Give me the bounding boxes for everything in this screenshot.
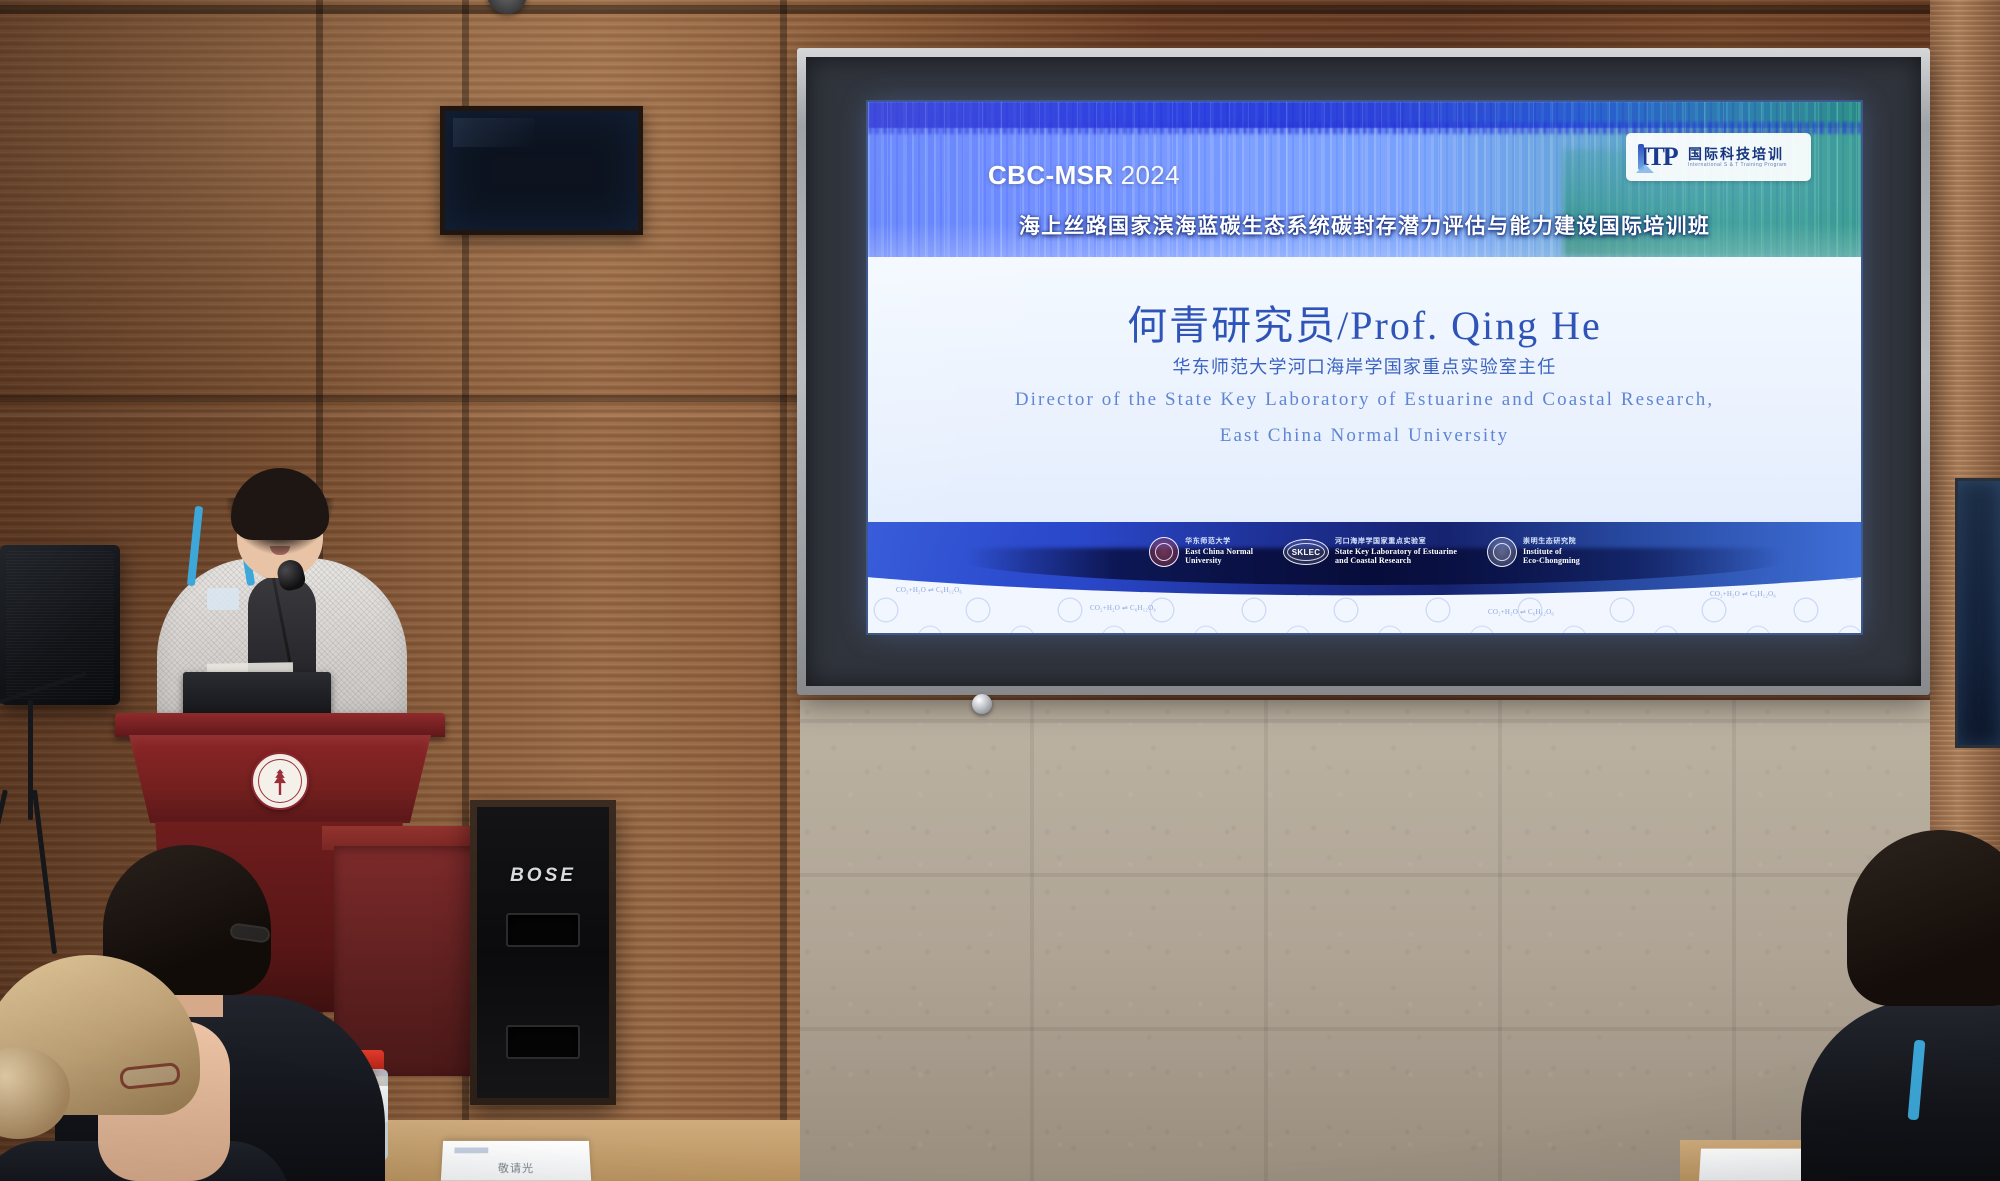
eco-chongming-logo-text: 崇明生态研究院 Institute of Eco-Chongming [1523,538,1580,566]
bose-speaker-cabinet: BOSE [470,800,616,1105]
itp-mark-icon: ITP [1635,140,1681,174]
sklec-name-cn: 河口海岸学国家重点实验室 [1335,538,1457,547]
chem-equation: CO₂+H₂O ⇌ C₆H₁₂O₆ [896,586,962,594]
emblem-tree-icon [270,769,290,795]
affiliation-cn: 华东师范大学河口海岸学国家重点实验室主任 [868,353,1861,379]
side-window-panel [1955,478,2000,748]
slide-footer: CO₂+H₂O ⇌ C₆H₁₂O₆ CO₂+H₂O ⇌ C₆H₁₂O₆ CO₂+… [868,522,1861,633]
event-code-text: CBC-MSR [988,160,1114,190]
eco-chongming-seal-icon [1487,537,1517,567]
eco-chongming-name-en-2: Eco-Chongming [1523,556,1580,566]
itp-logo-text: 国际科技培训 International S & T Training Prog… [1688,146,1787,168]
partner-logo-eco-chongming: 崇明生态研究院 Institute of Eco-Chongming [1487,537,1580,567]
bose-bass-port-upper [506,913,580,947]
ecnu-logo-text: 华东师范大学 East China Normal University [1185,538,1253,566]
affiliation-en-line2: East China Normal University [868,425,1861,447]
conference-hall-scene: CBC-MSR2024 ITP 国际科技培训 International S &… [0,0,2000,1181]
itp-name-en: International S & T Training Program [1688,162,1787,168]
partner-logo-sklec: SKLEC 河口海岸学国家重点实验室 State Key Laboratory … [1283,538,1457,566]
ecnu-name-en-1: East China Normal [1185,547,1253,557]
wall-monitor[interactable] [440,106,643,235]
event-code-title: CBC-MSR2024 [988,160,1180,191]
itp-logo: ITP 国际科技培训 International S & T Training … [1626,133,1811,181]
speaker-name: 何青研究员/Prof. Qing He [868,293,1861,351]
projection-screen-frame: CBC-MSR2024 ITP 国际科技培训 International S &… [797,48,1930,695]
affiliation-en-line1: Director of the State Key Laboratory of … [868,389,1861,411]
bose-bass-port-lower [506,1025,580,1059]
ecnu-name-cn: 华东师范大学 [1185,538,1253,547]
podium-top-ledge [115,713,445,737]
eco-chongming-name-cn: 崇明生态研究院 [1523,538,1580,547]
tripod-leg [32,790,57,954]
sklec-logo-text: 河口海岸学国家重点实验室 State Key Laboratory of Est… [1335,538,1457,566]
chem-equation: CO₂+H₂O ⇌ C₆H₁₂O₆ [1488,608,1554,616]
bose-logo: BOSE [510,865,576,887]
ecnu-name-en-2: University [1185,556,1253,566]
screen-control-knob[interactable] [972,694,992,714]
sklec-seal-icon: SKLEC [1283,539,1329,565]
podium-laptop[interactable] [183,672,331,714]
slide-body: 何青研究员/Prof. Qing He 华东师范大学河口海岸学国家重点实验室主任… [868,257,1861,522]
sklec-name-en-1: State Key Laboratory of Estuarine [1335,547,1457,557]
sklec-seal-text: SKLEC [1284,540,1328,564]
podium-emblem-icon [251,752,309,810]
eco-chongming-name-en-1: Institute of [1523,547,1580,557]
bose-speaker-grille: BOSE [477,807,609,1098]
microphone-tripod-stand [0,700,70,960]
tripod-leg [28,700,33,820]
partner-logo-row: 华东师范大学 East China Normal University SKLE… [868,530,1861,574]
slide-header: CBC-MSR2024 ITP 国际科技培训 International S &… [868,102,1861,257]
chem-equation: CO₂+H₂O ⇌ C₆H₁₂O₆ [1090,604,1156,612]
stone-wall-lower [800,700,2000,1181]
presentation-slide[interactable]: CBC-MSR2024 ITP 国际科技培训 International S &… [868,102,1861,633]
partner-logo-ecnu: 华东师范大学 East China Normal University [1149,537,1253,567]
event-year-text: 2024 [1121,160,1180,190]
ecnu-seal-icon [1149,537,1179,567]
slide-banner-title-cn: 海上丝路国家滨海蓝碳生态系统碳封存潜力评估与能力建设国际培训班 [868,210,1861,240]
tripod-leg [0,789,8,946]
chem-equation: CO₂+H₂O ⇌ C₆H₁₂O₆ [1710,590,1776,598]
stone-grain-texture [800,700,2000,1181]
itp-name-cn: 国际科技培训 [1688,146,1787,162]
sklec-name-en-2: and Coastal Research [1335,556,1457,566]
speaker-badge [207,588,239,610]
wall-batten [780,0,787,1181]
